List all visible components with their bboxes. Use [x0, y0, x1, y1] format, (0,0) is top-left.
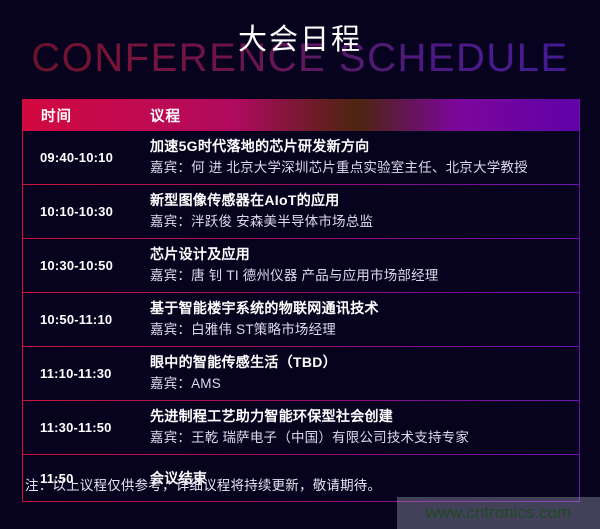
agenda-topic: 基于智能楼宇系统的物联网通讯技术	[150, 298, 573, 319]
watermark-bar: www.cntronics.com	[397, 497, 600, 529]
table-row: 10:10-10:30 新型图像传感器在AIoT的应用 嘉宾：泮跃俊 安森美半导…	[23, 184, 579, 238]
agenda-guest: 嘉宾：白雅伟 ST策略市场经理	[150, 319, 573, 340]
cell-agenda: 先进制程工艺助力智能环保型社会创建 嘉宾：王乾 瑞萨电子（中国）有限公司技术支持…	[141, 401, 579, 454]
table-header-row: 时间 议程	[23, 99, 579, 131]
table-row: 09:40-10:10 加速5G时代落地的芯片研发新方向 嘉宾：何 进 北京大学…	[23, 131, 579, 184]
footer-note: 注：以上议程仅供参考，详细议程将持续更新，敬请期待。	[25, 474, 381, 494]
cell-time: 11:10-11:30	[23, 366, 141, 381]
table-row: 11:30-11:50 先进制程工艺助力智能环保型社会创建 嘉宾：王乾 瑞萨电子…	[23, 400, 579, 454]
cell-time: 11:30-11:50	[23, 420, 141, 435]
schedule-table: 时间 议程 09:40-10:10 加速5G时代落地的芯片研发新方向 嘉宾：何 …	[22, 99, 580, 502]
agenda-guest: 嘉宾：王乾 瑞萨电子（中国）有限公司技术支持专家	[150, 427, 573, 448]
agenda-topic: 加速5G时代落地的芯片研发新方向	[150, 136, 573, 157]
cell-time: 10:10-10:30	[23, 204, 141, 219]
page-title: 大会日程	[0, 22, 600, 58]
agenda-guest: 嘉宾：泮跃俊 安森美半导体市场总监	[150, 211, 573, 232]
table-row: 10:30-10:50 芯片设计及应用 嘉宾：唐 钊 TI 德州仪器 产品与应用…	[23, 238, 579, 292]
agenda-guest: 嘉宾：何 进 北京大学深圳芯片重点实验室主任、北京大学教授	[150, 157, 573, 178]
column-header-agenda: 议程	[141, 105, 181, 126]
watermark-text: www.cntronics.com	[426, 503, 571, 523]
agenda-guest: 嘉宾：AMS	[150, 373, 573, 394]
agenda-topic: 眼中的智能传感生活（TBD）	[150, 352, 573, 373]
cell-agenda: 基于智能楼宇系统的物联网通讯技术 嘉宾：白雅伟 ST策略市场经理	[141, 293, 579, 346]
cell-agenda: 新型图像传感器在AIoT的应用 嘉宾：泮跃俊 安森美半导体市场总监	[141, 185, 579, 238]
agenda-guest: 嘉宾：唐 钊 TI 德州仪器 产品与应用市场部经理	[150, 265, 573, 286]
cell-agenda: 芯片设计及应用 嘉宾：唐 钊 TI 德州仪器 产品与应用市场部经理	[141, 239, 579, 292]
agenda-topic: 先进制程工艺助力智能环保型社会创建	[150, 406, 573, 427]
cell-agenda: 眼中的智能传感生活（TBD） 嘉宾：AMS	[141, 347, 579, 400]
cell-agenda: 加速5G时代落地的芯片研发新方向 嘉宾：何 进 北京大学深圳芯片重点实验室主任、…	[141, 131, 579, 184]
cell-time: 09:40-10:10	[23, 150, 141, 165]
table-row: 11:10-11:30 眼中的智能传感生活（TBD） 嘉宾：AMS	[23, 346, 579, 400]
cell-time: 10:50-11:10	[23, 312, 141, 327]
cell-time: 10:30-10:50	[23, 258, 141, 273]
agenda-topic: 新型图像传感器在AIoT的应用	[150, 190, 573, 211]
agenda-topic: 芯片设计及应用	[150, 244, 573, 265]
page-title-block: CONFERENCE SCHEDULE 大会日程	[0, 0, 600, 95]
table-row: 10:50-11:10 基于智能楼宇系统的物联网通讯技术 嘉宾：白雅伟 ST策略…	[23, 292, 579, 346]
column-header-time: 时间	[23, 105, 141, 126]
